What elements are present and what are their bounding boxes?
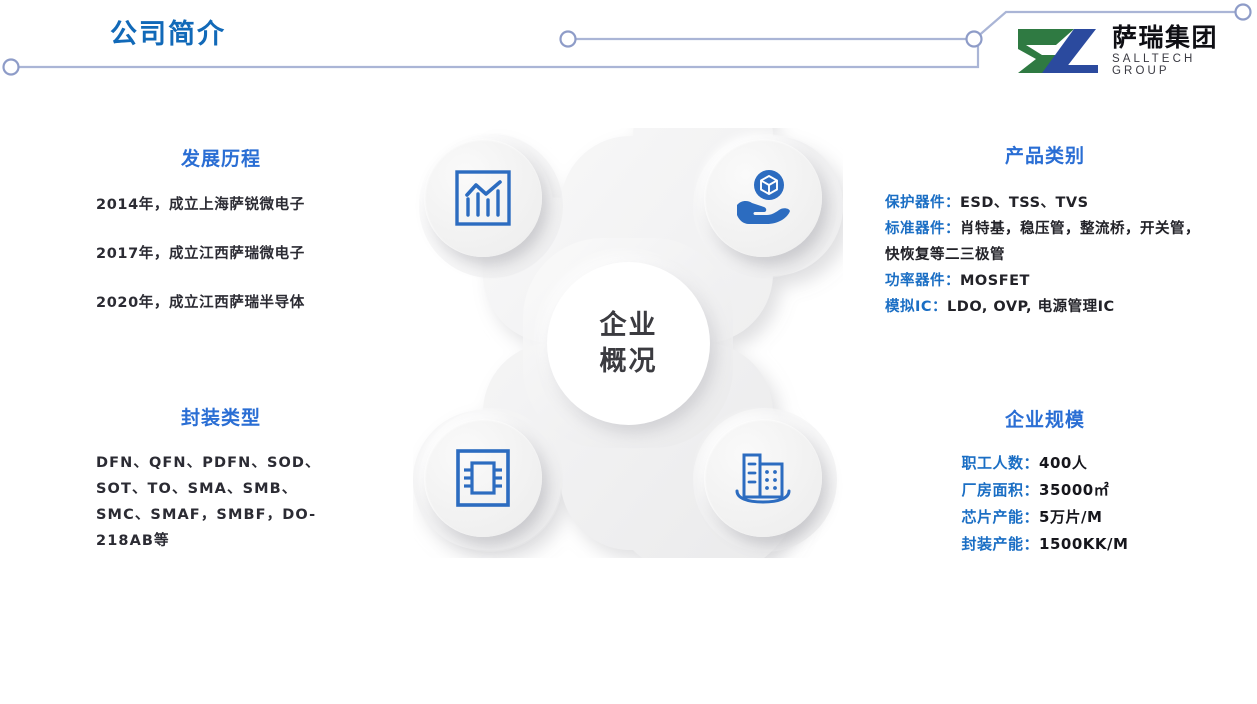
list-item: 2020年，成立江西萨瑞半导体 [96,291,346,312]
node-chart[interactable] [424,139,542,257]
product-value: ESD、TSS、TVS [960,195,1089,211]
node-service[interactable] [704,139,822,257]
scale-value: 5万片/M [1039,508,1102,526]
section-packaging-types: 封装类型 DFN、QFN、PDFN、SOD、SOT、TO、SMA、SMB、SMC… [96,403,346,554]
scale-label: 厂房面积： [962,481,1040,499]
list-item: 保护器件：ESD、TSS、TVS [885,190,1205,216]
product-value: LDO, OVP, 电源管理IC [947,299,1115,315]
logo-chinese-name: 萨瑞集团 [1112,25,1248,50]
scale-list: 职工人数：400人 厂房面积：35000㎡ 芯片产能：5万片/M 封装产能：15… [962,450,1129,558]
node-facility[interactable] [704,419,822,537]
section-development-history: 发展历程 2014年，成立上海萨锐微电子 2017年，成立江西萨瑞微电子 202… [96,144,346,340]
scale-value: 1500KK/M [1039,535,1128,553]
product-label: 功率器件： [885,273,960,289]
deco-dot-left [4,60,19,75]
chip-icon [452,447,514,509]
products-title: 产品类别 [885,141,1205,168]
company-logo: 萨瑞集团 SALLTECH GROUP [1012,24,1248,78]
list-item: 封装产能：1500KK/M [962,531,1129,558]
scale-label: 芯片产能： [962,508,1040,526]
packaging-title: 封装类型 [96,403,346,430]
hub-line-2: 概况 [600,344,658,380]
scale-label: 职工人数： [962,454,1040,472]
packaging-body: DFN、QFN、PDFN、SOD、SOT、TO、SMA、SMB、SMC、SMAF… [96,450,346,554]
product-label: 模拟IC： [885,299,947,315]
scale-label: 封装产能： [962,535,1040,553]
salltech-logo-mark [1012,25,1104,77]
list-item: 2014年，成立上海萨锐微电子 [96,193,346,214]
list-item: 2017年，成立江西萨瑞微电子 [96,242,346,263]
list-item: 芯片产能：5万片/M [962,504,1129,531]
product-label: 标准器件： [885,221,960,237]
product-label: 保护器件： [885,195,960,211]
history-list: 2014年，成立上海萨锐微电子 2017年，成立江西萨瑞微电子 2020年，成立… [96,193,346,312]
page-title: 公司简介 [110,12,226,51]
buildings-icon [730,447,796,509]
list-item: 职工人数：400人 [962,450,1129,477]
hand-holding-box-icon [731,167,795,229]
list-item: 模拟IC：LDO, OVP, 电源管理IC [885,294,1205,320]
slide-root: 公司简介 萨瑞集团 SALLTECH GROUP 发展历程 2014年，成立上海… [0,0,1257,704]
scale-value: 35000㎡ [1039,481,1109,499]
list-item: 标准器件：肖特基，稳压管，整流桥，开关管，快恢复等二三极管 [885,216,1205,268]
section-enterprise-scale: 企业规模 职工人数：400人 厂房面积：35000㎡ 芯片产能：5万片/M 封装… [885,405,1205,558]
section-product-categories: 产品类别 保护器件：ESD、TSS、TVS 标准器件：肖特基，稳压管，整流桥，开… [885,141,1205,320]
scale-value: 400人 [1039,454,1087,472]
center-hub: 企业 概况 [547,262,710,425]
product-value: MOSFET [960,273,1030,289]
deco-dot-right [1236,5,1251,20]
hub-line-1: 企业 [600,308,658,344]
deco-dot-junction [967,32,982,47]
node-chip[interactable] [424,419,542,537]
list-item: 功率器件：MOSFET [885,268,1205,294]
deco-dot-mid [561,32,576,47]
products-list: 保护器件：ESD、TSS、TVS 标准器件：肖特基，稳压管，整流桥，开关管，快恢… [885,190,1205,320]
history-title: 发展历程 [96,144,346,171]
logo-english-name: SALLTECH GROUP [1112,54,1248,77]
scale-title: 企业规模 [885,405,1205,432]
list-item: 厂房面积：35000㎡ [962,477,1129,504]
chart-icon [452,167,514,229]
center-diagram: 企业 概况 [413,128,843,558]
